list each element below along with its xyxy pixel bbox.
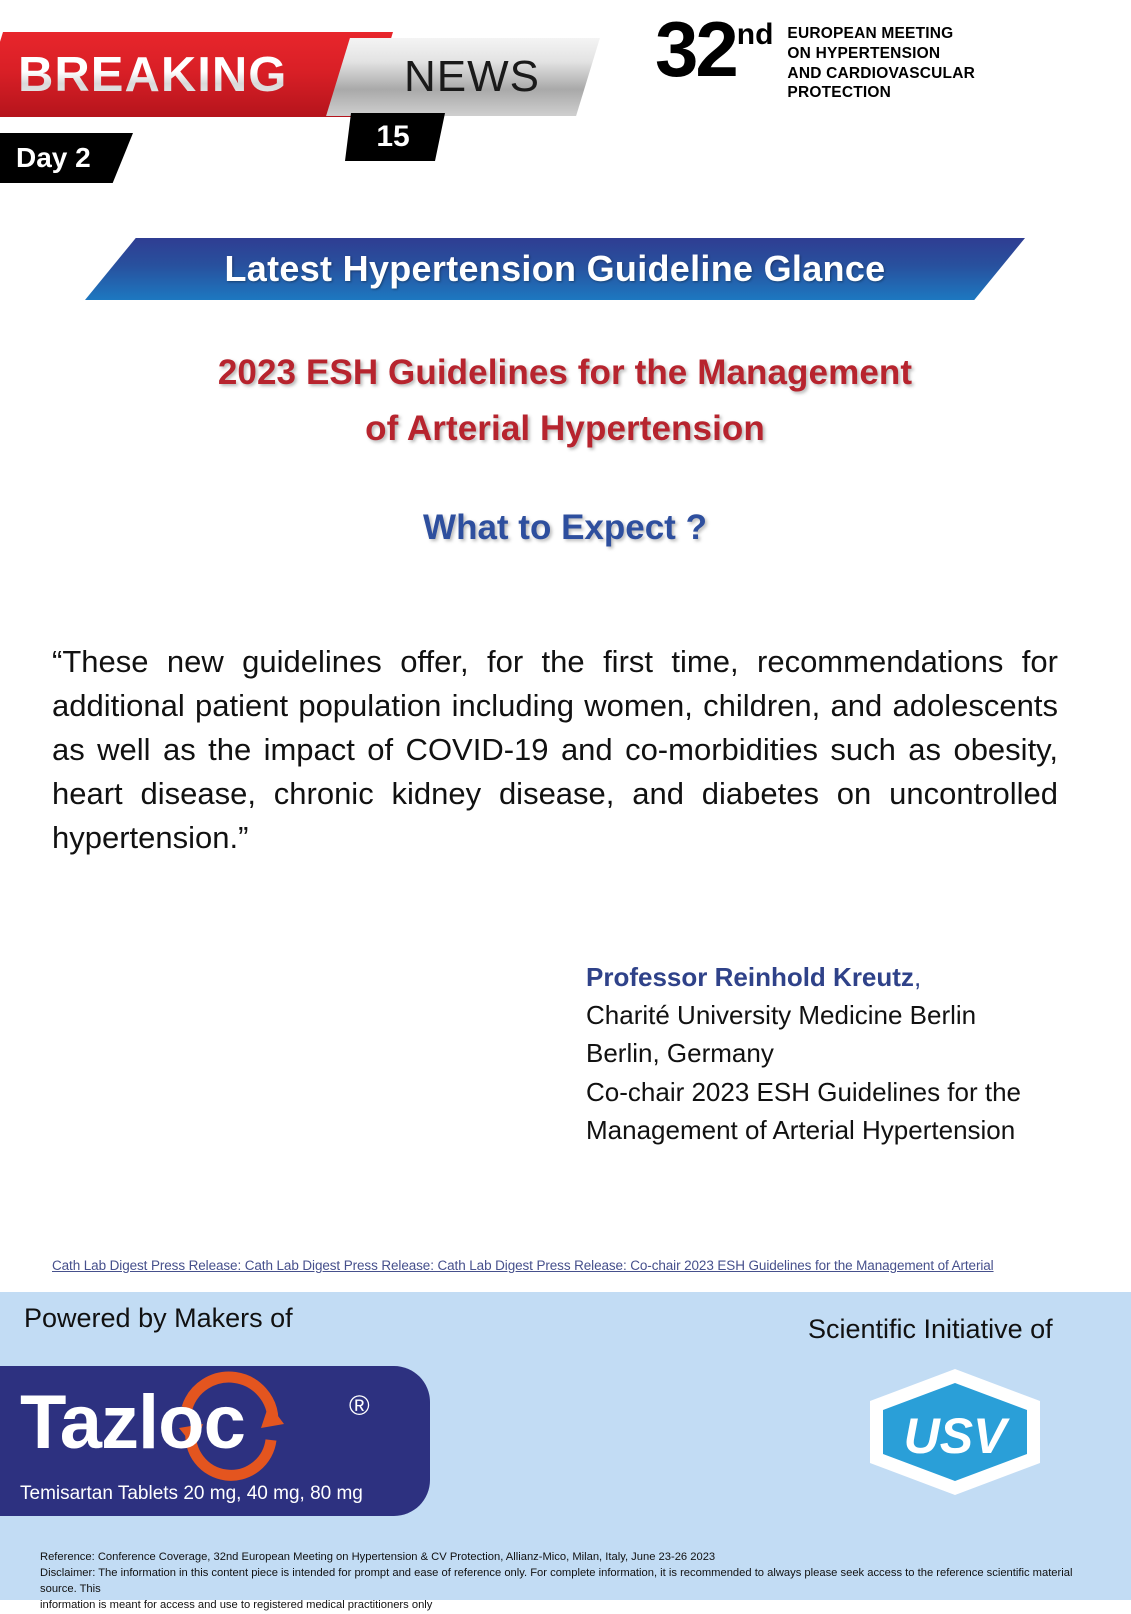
attribution-name: Professor Reinhold Kreutz <box>586 962 914 992</box>
article-title: 2023 ESH Guidelines for the Management o… <box>100 345 1030 457</box>
conference-name-line-4: PROTECTION <box>787 83 975 103</box>
tazloc-product-description: Temisartan Tablets 20 mg, 40 mg, 80 mg <box>20 1483 420 1505</box>
scientific-initiative-label: Scientific Initiative of <box>808 1314 1053 1345</box>
attribution-name-row: Professor Reinhold Kreutz, <box>586 958 1106 996</box>
disclaimer-line-3: information is meant for access and use … <box>40 1598 1100 1614</box>
conference-name-line-3: AND CARDIOVASCULAR <box>787 64 975 84</box>
powered-by-label: Powered by Makers of <box>24 1303 293 1334</box>
quote-attribution: Professor Reinhold Kreutz, Charité Unive… <box>586 958 1106 1149</box>
usv-logo-text: USV <box>904 1408 1010 1464</box>
conference-name-line-2: ON HYPERTENSION <box>787 44 975 64</box>
article-title-line-1: 2023 ESH Guidelines for the Management <box>100 345 1030 401</box>
issue-number-badge: 15 <box>345 115 441 159</box>
attribution-role-line-2: Management of Arterial Hypertension <box>586 1111 1106 1149</box>
attribution-role-line-1: Co-chair 2023 ESH Guidelines for the <box>586 1073 1106 1111</box>
attribution-name-comma: , <box>914 962 921 992</box>
article-title-line-2: of Arterial Hypertension <box>100 401 1030 457</box>
pull-quote: “These new guidelines offer, for the fir… <box>52 640 1058 860</box>
day-badge: Day 2 <box>16 139 91 177</box>
attribution-location: Berlin, Germany <box>586 1034 1106 1072</box>
newsletter-page: BREAKING NEWS 15 Day 2 32 nd EUROPEAN ME… <box>0 0 1131 1600</box>
pull-quote-text: “These new guidelines offer, for the fir… <box>52 644 1058 855</box>
tazloc-registered-mark: ® <box>349 1390 370 1422</box>
tazloc-brand-name: Tazloc <box>20 1378 400 1466</box>
attribution-affiliation: Charité University Medicine Berlin <box>586 996 1106 1034</box>
breaking-label: BREAKING <box>18 40 348 110</box>
conference-edition-ordinal: nd <box>737 18 774 52</box>
news-label: NEWS <box>382 46 562 108</box>
section-banner-title: Latest Hypertension Guideline Glance <box>85 238 1025 300</box>
conference-name-line-1: EUROPEAN MEETING <box>787 24 975 44</box>
conference-edition-number: 32 <box>655 12 736 86</box>
conference-logo: 32 nd EUROPEAN MEETING ON HYPERTENSION A… <box>655 12 975 103</box>
usv-logo: USV <box>866 1367 1044 1497</box>
article-subtitle: What to Expect ? <box>100 508 1030 548</box>
source-reference-link[interactable]: Cath Lab Digest Press Release: Cath Lab … <box>52 1258 1062 1273</box>
disclaimer-line-2: Disclaimer: The information in this cont… <box>40 1566 1100 1598</box>
disclaimer-reference-line: Reference: Conference Coverage, 32nd Eur… <box>40 1550 1100 1566</box>
disclaimer-block: Reference: Conference Coverage, 32nd Eur… <box>40 1550 1100 1614</box>
conference-name-block: EUROPEAN MEETING ON HYPERTENSION AND CAR… <box>787 24 975 103</box>
